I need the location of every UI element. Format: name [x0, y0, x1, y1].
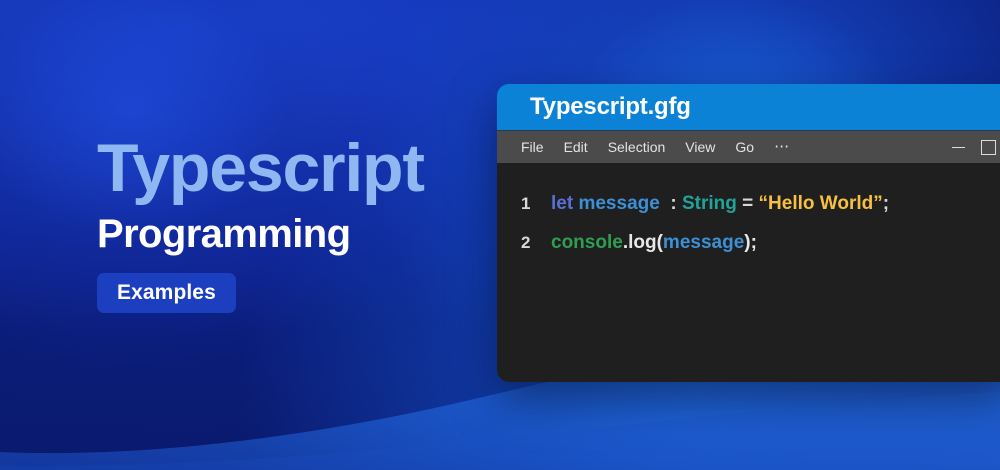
page-title: Typescript: [97, 134, 497, 203]
menu-item-selection[interactable]: Selection: [598, 131, 676, 164]
minimize-icon: [952, 147, 965, 148]
hero-text-block: Typescript Programming Examples: [97, 134, 497, 313]
page-subtitle: Programming: [97, 213, 497, 255]
code-editor-window: Typescript.gfg File Edit Selection View …: [497, 84, 1000, 382]
code-token-plain: =: [742, 193, 753, 214]
code-token-func: );: [744, 232, 757, 253]
line-number: 2: [521, 233, 551, 253]
menu-item-go[interactable]: Go: [725, 131, 764, 164]
code-tokens: let message : String = “Hello World”;: [551, 193, 889, 215]
code-token-var: message: [663, 232, 744, 253]
code-token-plain: ;: [883, 193, 889, 214]
menu-item-view[interactable]: View: [675, 131, 725, 164]
menu-overflow-icon[interactable]: ⋯: [764, 134, 800, 160]
minimize-button[interactable]: [943, 131, 973, 164]
menu-item-file[interactable]: File: [511, 131, 554, 164]
window-title: Typescript.gfg: [530, 93, 691, 121]
maximize-icon: [981, 140, 996, 155]
code-token-func: .log(: [623, 232, 663, 253]
window-titlebar: Typescript.gfg: [497, 84, 1000, 130]
code-token-keyword: let: [551, 193, 573, 214]
menu-item-edit[interactable]: Edit: [554, 131, 598, 164]
code-token-str: “Hello World”: [759, 193, 883, 214]
code-line: 2 console.log(message);: [497, 232, 1000, 271]
code-token-var: message: [578, 193, 659, 214]
code-token-plain: [660, 193, 671, 214]
code-editor-area[interactable]: 1 let message : String = “Hello World”; …: [497, 163, 1000, 382]
line-number: 1: [521, 194, 551, 214]
banner-root: Typescript Programming Examples Typescri…: [0, 0, 1000, 470]
code-token-type: String: [682, 193, 737, 214]
menu-bar: File Edit Selection View Go ⋯: [497, 130, 1000, 163]
code-token-obj: console: [551, 232, 623, 253]
code-tokens: console.log(message);: [551, 232, 757, 254]
maximize-button[interactable]: [973, 131, 1000, 164]
code-line: 1 let message : String = “Hello World”;: [497, 193, 1000, 232]
examples-badge[interactable]: Examples: [97, 273, 236, 313]
